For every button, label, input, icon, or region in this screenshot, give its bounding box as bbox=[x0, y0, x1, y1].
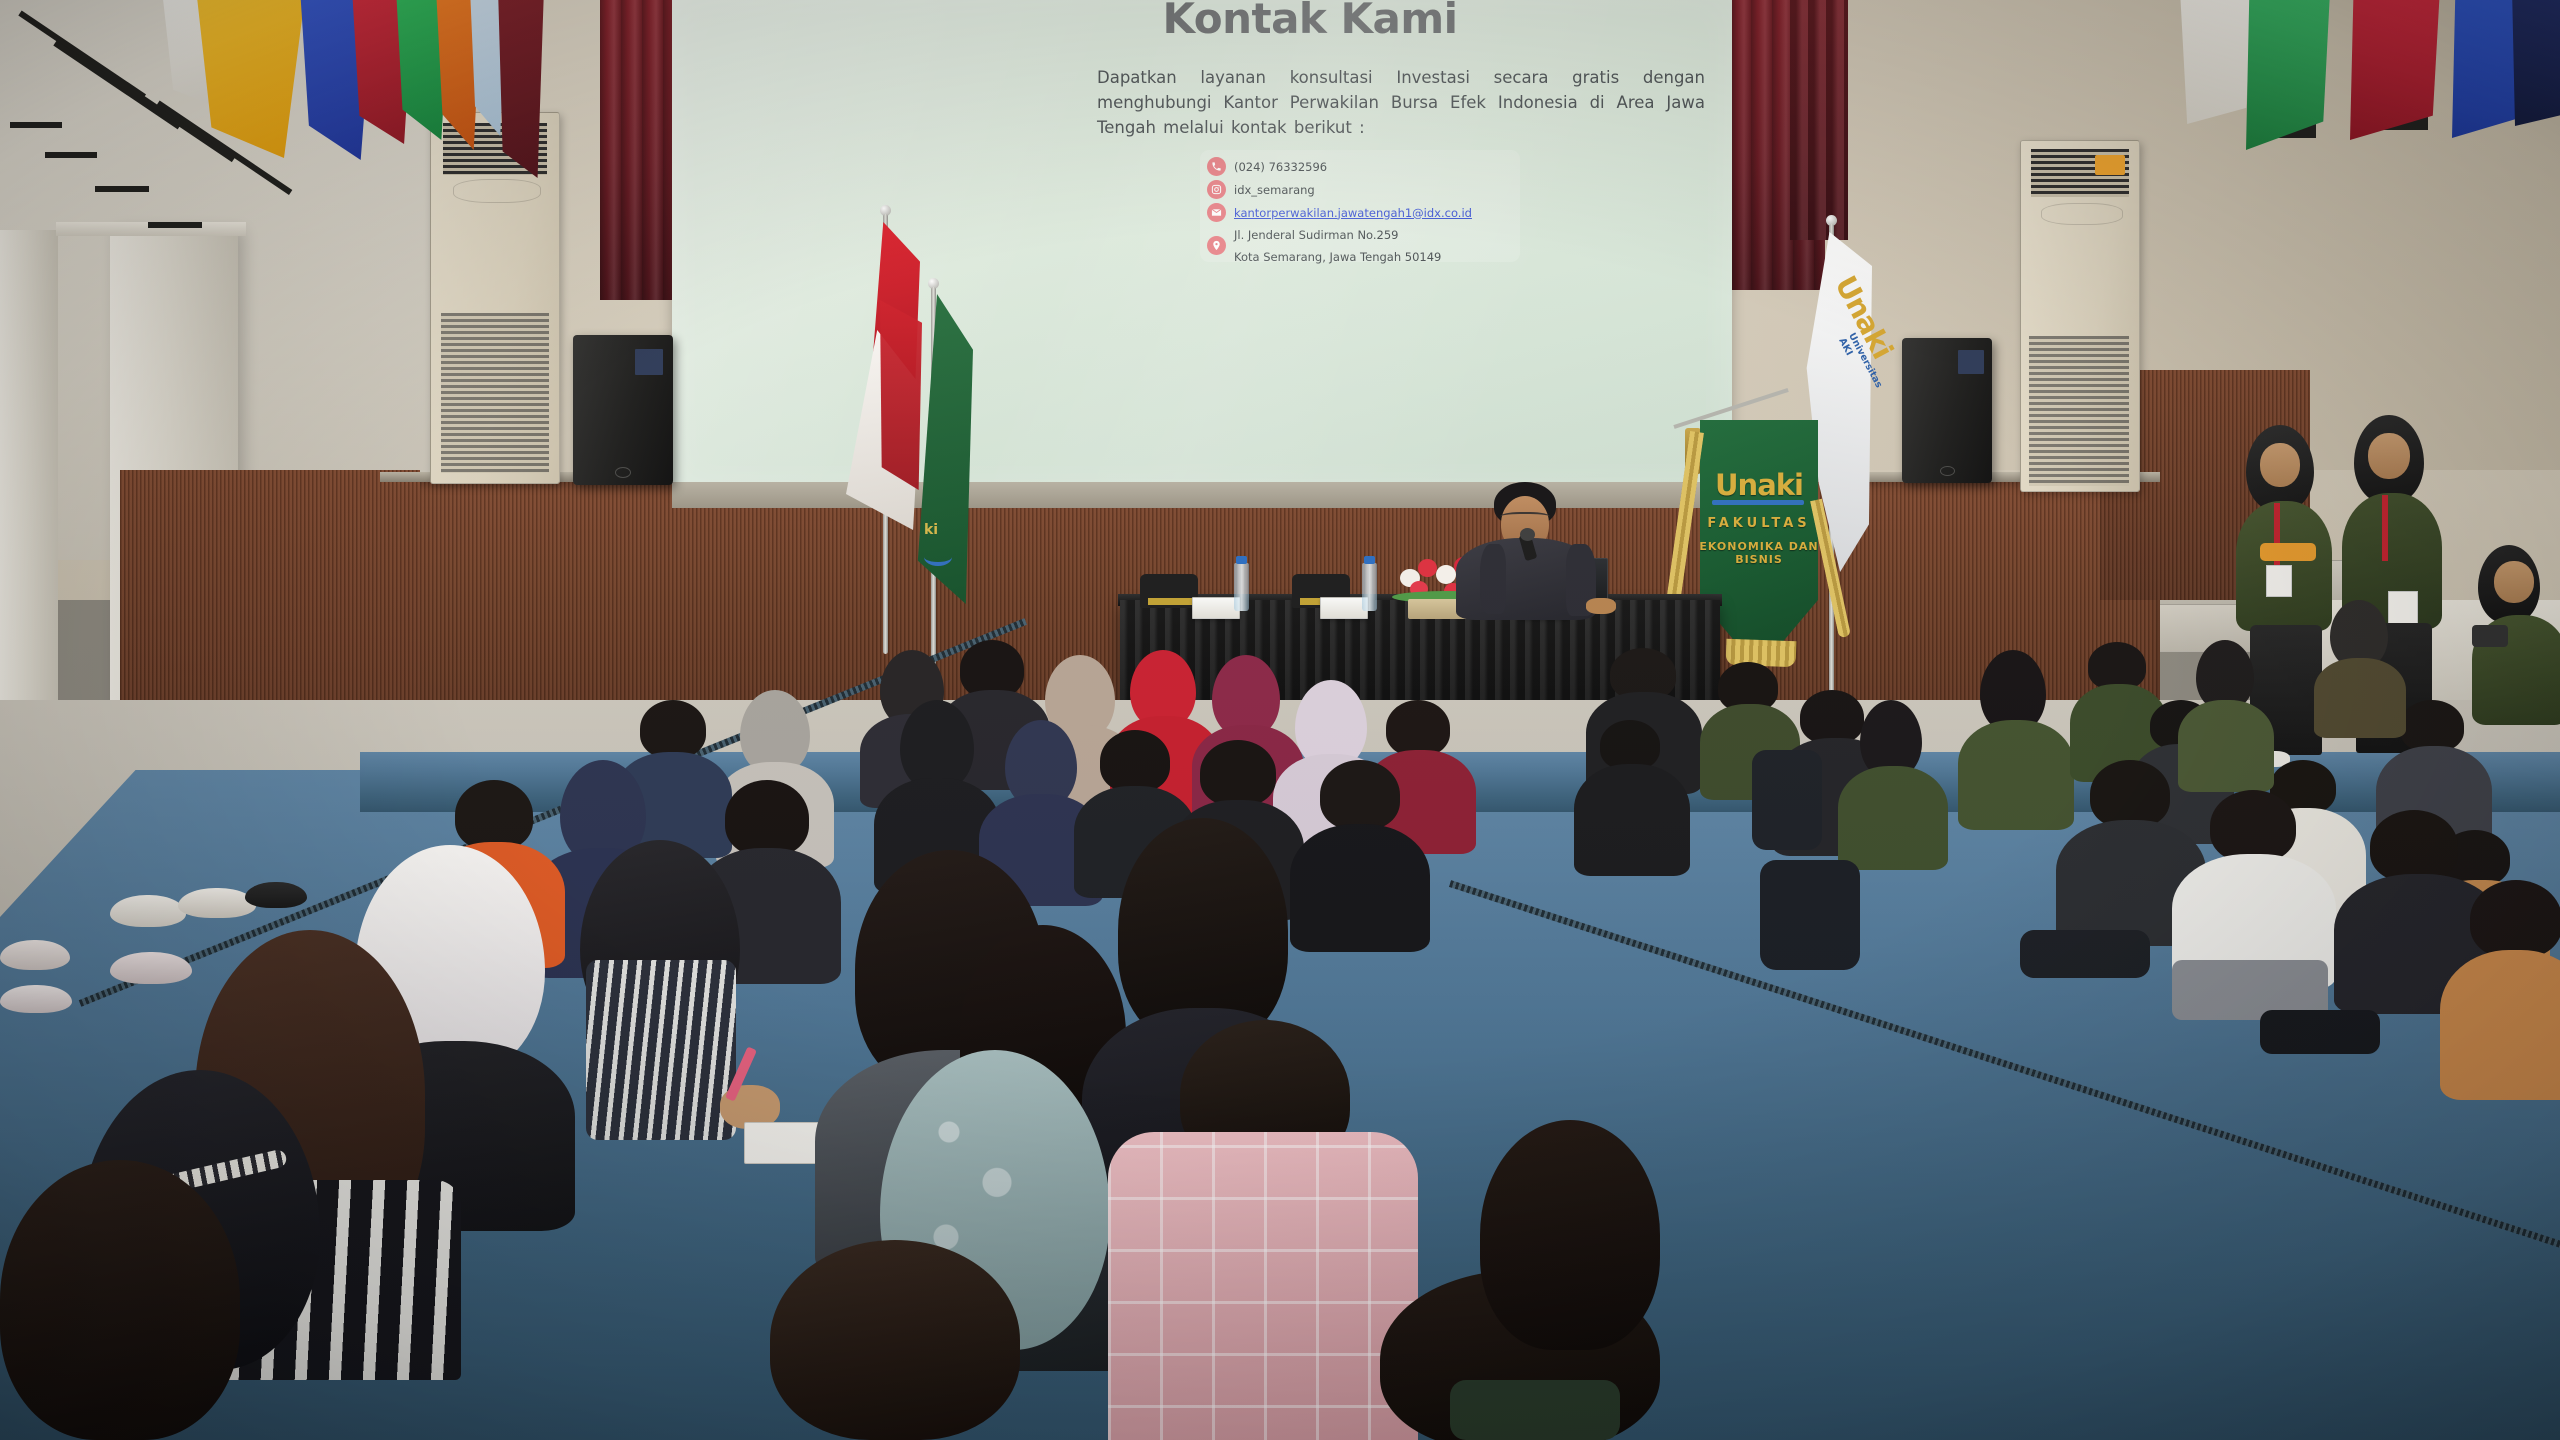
b8-hair bbox=[2400, 700, 2464, 752]
slide-body-text: Dapatkan layanan konsultasi Investasi se… bbox=[1097, 66, 1705, 140]
ac-vent-bottom-left bbox=[441, 313, 549, 473]
m12-hair bbox=[1100, 730, 1170, 792]
email-icon bbox=[1207, 203, 1226, 222]
phone-icon bbox=[1207, 157, 1226, 176]
bag-on-floor-2 bbox=[2260, 1010, 2380, 1054]
water-bottle-2 bbox=[1362, 563, 1377, 611]
slide-contact-list: (024) 76332596 idx_semarang kantorperwak… bbox=[1207, 155, 1537, 266]
f14-hair bbox=[2090, 760, 2170, 828]
flag-red-fold bbox=[880, 300, 922, 490]
name-card-1 bbox=[1192, 597, 1240, 619]
shoe-1 bbox=[110, 895, 186, 927]
flag-bracket-arm-2 bbox=[45, 152, 97, 158]
b12-body bbox=[1838, 766, 1948, 870]
f11-hair bbox=[770, 1240, 1020, 1440]
committee-1-held-object bbox=[2260, 543, 2316, 561]
f10-checkered-shirt bbox=[1108, 1132, 1418, 1440]
speaker-glasses bbox=[1500, 512, 1550, 524]
committee-2-lanyard bbox=[2382, 495, 2388, 561]
bottle-cap-1 bbox=[1236, 556, 1247, 564]
water-bottle-1 bbox=[1234, 563, 1249, 611]
shoe-2 bbox=[178, 888, 256, 918]
b3-hair bbox=[1800, 690, 1864, 744]
committee-1-face bbox=[2260, 443, 2300, 487]
bottle-cap-2 bbox=[1364, 556, 1375, 564]
wall-flag-maroon bbox=[498, 0, 544, 178]
speaker-left-sleeve bbox=[1480, 544, 1506, 614]
pennant-line-1: Unaki bbox=[1700, 468, 1818, 502]
b11-hair bbox=[1600, 720, 1660, 770]
instagram-icon bbox=[1207, 180, 1226, 199]
m14-hair bbox=[1320, 760, 1400, 830]
ac-logo-plate-right bbox=[2041, 203, 2123, 225]
contact-phone-value: (024) 76332596 bbox=[1234, 160, 1327, 174]
f2-notebook[interactable] bbox=[744, 1122, 824, 1164]
m10-hijab bbox=[900, 700, 974, 790]
location-pin-icon bbox=[1207, 236, 1226, 255]
bag-on-floor-3 bbox=[1450, 1380, 1620, 1440]
flag-unaki-emblem-arc bbox=[924, 548, 952, 566]
microphone-head bbox=[1520, 528, 1535, 541]
flag-unaki-emblem-text: ki bbox=[924, 522, 958, 536]
speaker-hand bbox=[1586, 598, 1616, 614]
pa-speaker-right bbox=[1902, 338, 1992, 483]
flag-bracket-arm-4 bbox=[148, 222, 202, 228]
shoe-6 bbox=[0, 985, 72, 1013]
f17-body bbox=[2440, 950, 2560, 1100]
name-card-2 bbox=[1320, 597, 1368, 619]
f16-hair bbox=[2370, 810, 2458, 882]
air-conditioner-right bbox=[2020, 140, 2140, 492]
b4-body bbox=[1958, 720, 2074, 830]
m7-hair bbox=[1386, 700, 1450, 756]
ac-warning-sticker bbox=[2095, 155, 2125, 175]
m14-body bbox=[1290, 824, 1430, 952]
speaker-logo-left bbox=[615, 467, 631, 478]
committee-2-face bbox=[2368, 433, 2410, 479]
flower-white-2 bbox=[1436, 565, 1456, 584]
speaker-logo-right bbox=[1940, 466, 1955, 476]
contact-row-phone: (024) 76332596 bbox=[1207, 155, 1537, 178]
ac-logo-plate-left bbox=[453, 179, 541, 203]
m17-hair bbox=[725, 780, 809, 856]
speaker-label-left bbox=[635, 349, 663, 375]
address-line-1: Jl. Jenderal Sudirman No.259 bbox=[1234, 227, 1399, 244]
seminar-photo-scene: Kontak Kami Dapatkan layanan konsultasi … bbox=[0, 0, 2560, 1440]
flag-bracket-arm-3 bbox=[95, 186, 149, 192]
shoe-3 bbox=[245, 882, 307, 908]
committee-1-id-badge bbox=[2266, 565, 2292, 597]
shoe-5 bbox=[110, 952, 192, 984]
f17-hair bbox=[2470, 880, 2560, 958]
m13-hair bbox=[1200, 740, 1276, 806]
speaker-label-right bbox=[1958, 350, 1984, 374]
slide-title: Kontak Kami bbox=[1100, 0, 1520, 43]
f13-hair bbox=[1480, 1120, 1660, 1350]
screen-bottom-rail bbox=[672, 482, 1734, 508]
pennant-underline bbox=[1712, 500, 1804, 505]
wall-flag-white-right bbox=[2180, 0, 2252, 124]
air-conditioner-left bbox=[430, 112, 560, 484]
f15-hair bbox=[2210, 790, 2296, 862]
m16-hair bbox=[455, 780, 533, 850]
ac-vent-bottom-right bbox=[2029, 336, 2129, 486]
chair-sash-1 bbox=[1148, 598, 1192, 605]
b3-backpack bbox=[1752, 750, 1822, 850]
contact-instagram-value: idx_semarang bbox=[1234, 183, 1315, 197]
committee-3-phone[interactable] bbox=[2472, 625, 2508, 647]
f5-hair bbox=[0, 1160, 240, 1440]
contact-email-value[interactable]: kantorperwakilan.jawatengah1@idx.co.id bbox=[1234, 206, 1472, 220]
bag-on-floor-1 bbox=[2020, 930, 2150, 978]
b11-body bbox=[1574, 764, 1690, 876]
pa-speaker-left bbox=[573, 335, 673, 485]
committee-3-face bbox=[2494, 561, 2534, 603]
flag-bracket-arm-1 bbox=[10, 122, 62, 128]
f2-striped-shirt bbox=[586, 960, 736, 1140]
b10-body bbox=[2314, 658, 2406, 738]
address-line-2: Kota Semarang, Jawa Tengah 50149 bbox=[1234, 249, 1537, 266]
contact-row-instagram: idx_semarang bbox=[1207, 178, 1537, 201]
b13-body bbox=[2178, 700, 2274, 792]
contact-row-email: kantorperwakilan.jawatengah1@idx.co.id bbox=[1207, 201, 1537, 224]
shoe-4 bbox=[0, 940, 70, 970]
stage-curtain-right-inner bbox=[1790, 0, 1848, 240]
pennant-line-2: FAKULTAS bbox=[1700, 516, 1818, 531]
stage-curtain-left bbox=[600, 0, 678, 300]
b5-hair bbox=[2088, 642, 2146, 690]
flower-red-1 bbox=[1418, 559, 1437, 577]
pennant-line-3: EKONOMIKA DAN BISNIS bbox=[1692, 540, 1826, 566]
m9-hair bbox=[640, 700, 706, 758]
wall-flag-navy-right bbox=[2512, 0, 2560, 126]
backpack-on-floor bbox=[1760, 860, 1860, 970]
